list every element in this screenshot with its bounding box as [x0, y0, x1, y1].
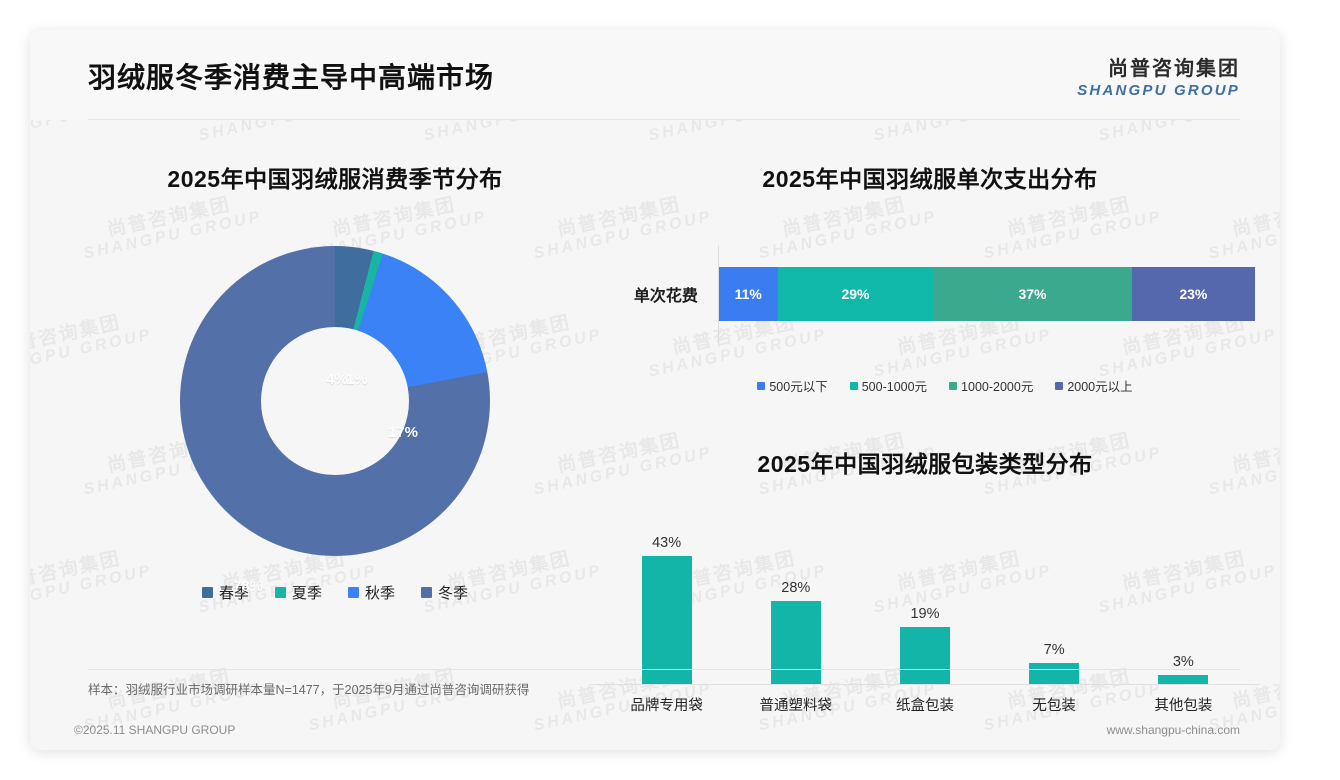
stacked-legend-label: 500-1000元 [862, 376, 927, 395]
slide-footer: ©2025.11 SHANGPU GROUP www.shangpu-china… [30, 710, 1280, 750]
chart-title-packaging: 2025年中国羽绒服包装类型分布 [590, 445, 1260, 479]
logo-english-text: SHANGPU GROUP [1077, 82, 1240, 99]
stacked-bar-legend: 500元以下500-1000元1000-2000元2000元以上 [605, 376, 1255, 395]
stacked-bar: 11%29%37%23% [719, 267, 1255, 321]
donut-legend-item[interactable]: 冬季 [421, 582, 468, 603]
stacked-legend-item[interactable]: 500-1000元 [850, 376, 927, 395]
legend-swatch-icon [421, 587, 432, 598]
stacked-bar-row: 单次花费 11%29%37%23% [605, 246, 1255, 342]
stacked-legend-item[interactable]: 2000元以上 [1055, 376, 1132, 395]
bar-value-label: 7% [1044, 642, 1065, 658]
footer-copyright: ©2025.11 SHANGPU GROUP [74, 723, 235, 737]
stacked-bar-segment[interactable]: 37% [933, 267, 1131, 321]
chart-title-season: 2025年中国羽绒服消费季节分布 [75, 160, 595, 194]
logo-chinese-text: 尚普咨询集团 [1077, 52, 1240, 81]
donut-legend-item[interactable]: 夏季 [275, 582, 322, 603]
chart-panel-spend-stacked: 2025年中国羽绒服单次支出分布 单次花费 11%29%37%23% 500元以… [605, 160, 1255, 430]
slide-card: 尚普咨询集团SHANGPU GROUP尚普咨询集团SHANGPU GROUP尚普… [30, 30, 1280, 750]
chart-panel-season-donut: 2025年中国羽绒服消费季节分布 4% 1% 17% 78% 春季夏季秋季冬季 [75, 160, 595, 670]
chart-title-spend: 2025年中国羽绒服单次支出分布 [605, 160, 1255, 194]
stacked-legend-label: 500元以下 [769, 376, 827, 395]
chart-panel-packaging-bars: 2025年中国羽绒服包装类型分布 43%28%19%7%3% 品牌专用袋普通塑料… [590, 445, 1260, 700]
donut-label-autumn: 17% [388, 424, 418, 441]
donut-legend-label: 夏季 [292, 582, 322, 603]
bar-column[interactable]: 28% [738, 525, 854, 684]
legend-swatch-icon [275, 587, 286, 598]
stacked-legend-item[interactable]: 1000-2000元 [949, 376, 1033, 395]
stacked-legend-label: 1000-2000元 [961, 376, 1033, 395]
bar-rect[interactable] [642, 556, 692, 684]
stacked-bar-category-label: 单次花费 [629, 282, 718, 306]
brand-logo: 尚普咨询集团 SHANGPU GROUP [1077, 52, 1240, 99]
donut-label-spring: 4% [326, 371, 348, 388]
donut-legend-label: 秋季 [365, 582, 395, 603]
footer-website[interactable]: www.shangpu-china.com [1107, 723, 1240, 737]
source-footnote: 样本：羽绒服行业市场调研样本量N=1477，于2025年9月通过尚普咨询调研获得 [88, 669, 1240, 698]
legend-swatch-icon [348, 587, 359, 598]
stacked-bar-segment[interactable]: 11% [719, 267, 778, 321]
donut-legend: 春季夏季秋季冬季 [75, 582, 595, 603]
donut-label-winter: 78% [233, 578, 263, 595]
legend-swatch-icon [1055, 382, 1063, 390]
bar-value-label: 3% [1173, 654, 1194, 670]
stacked-legend-label: 2000元以上 [1067, 376, 1132, 395]
legend-swatch-icon [850, 382, 858, 390]
stacked-legend-item[interactable]: 500元以下 [757, 376, 827, 395]
bar-column[interactable]: 19% [867, 525, 983, 684]
bar-chart-plot-area: 43%28%19%7%3% [590, 525, 1260, 685]
donut-ring [180, 246, 490, 556]
page-title: 羽绒服冬季消费主导中高端市场 [88, 56, 494, 96]
legend-swatch-icon [202, 587, 213, 598]
legend-swatch-icon [949, 382, 957, 390]
bar-column[interactable]: 7% [996, 525, 1112, 684]
bar-value-label: 19% [910, 606, 939, 622]
donut-legend-label: 冬季 [438, 582, 468, 603]
bar-column[interactable]: 3% [1125, 525, 1241, 684]
stacked-bar-segment[interactable]: 29% [778, 267, 934, 321]
bar-value-label: 43% [652, 535, 681, 551]
bar-value-label: 28% [781, 580, 810, 596]
bar-column[interactable]: 43% [608, 525, 724, 684]
stacked-bar-segment[interactable]: 23% [1132, 267, 1255, 321]
donut-label-summer: 1% [346, 371, 368, 388]
legend-swatch-icon [757, 382, 765, 390]
slide-header: 羽绒服冬季消费主导中高端市场 尚普咨询集团 SHANGPU GROUP [30, 30, 1280, 120]
donut-chart: 4% 1% 17% 78% [180, 246, 490, 556]
donut-legend-item[interactable]: 秋季 [348, 582, 395, 603]
